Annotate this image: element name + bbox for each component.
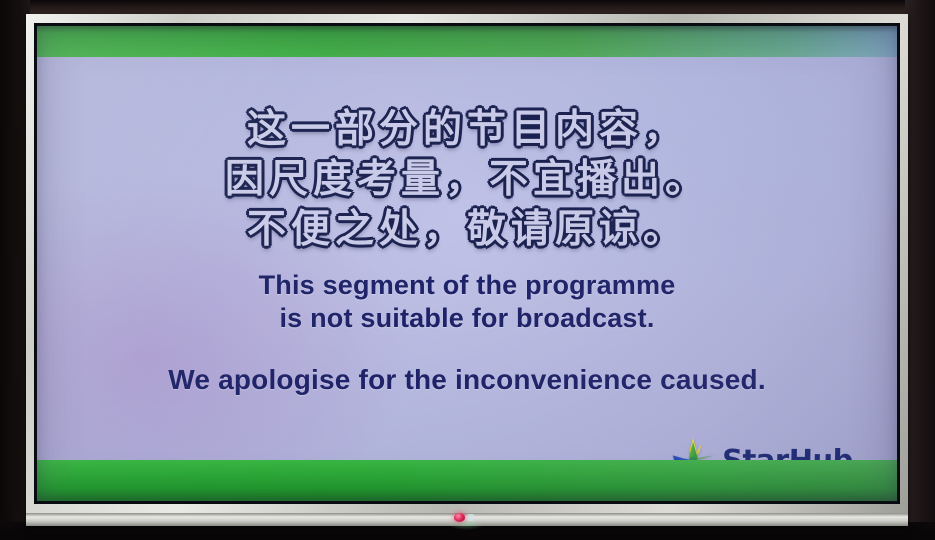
tv-screen: 这一部分的节目内容， 因尺度考量，不宜播出。 不便之处，敬请原谅。 This s…: [37, 26, 897, 501]
notice-content: 这一部分的节目内容， 因尺度考量，不宜播出。 不便之处，敬请原谅。 This s…: [37, 57, 897, 460]
english-line-2: is not suitable for broadcast.: [37, 302, 897, 335]
english-notice-block: This segment of the programme is not sui…: [37, 269, 897, 396]
photographed-scene: 这一部分的节目内容， 因尺度考量，不宜播出。 不便之处，敬请原谅。 This s…: [0, 0, 935, 540]
chinese-line-2: 因尺度考量，不宜播出。: [37, 155, 897, 205]
green-top-bar-shading: [37, 26, 897, 57]
television-set: 这一部分的节目内容， 因尺度考量，不宜播出。 不便之处，敬请原谅。 This s…: [26, 14, 908, 526]
wall-right: [905, 0, 935, 540]
tv-inner-frame: 这一部分的节目内容， 因尺度考量，不宜播出。 不便之处，敬请原谅。 This s…: [34, 23, 900, 504]
chinese-line-3: 不便之处，敬请原谅。: [37, 205, 897, 255]
ir-sensor-icon: [467, 514, 474, 521]
green-top-bar: [37, 26, 897, 57]
power-led-indicator: [454, 513, 465, 522]
english-apology-line: We apologise for the inconvenience cause…: [37, 363, 897, 396]
chinese-notice-block: 这一部分的节目内容， 因尺度考量，不宜播出。 不便之处，敬请原谅。: [37, 105, 897, 255]
green-bottom-bar: [37, 460, 897, 501]
green-bottom-bar-shading: [37, 460, 897, 501]
english-line-1: This segment of the programme: [37, 269, 897, 302]
chinese-line-1: 这一部分的节目内容，: [37, 105, 897, 155]
